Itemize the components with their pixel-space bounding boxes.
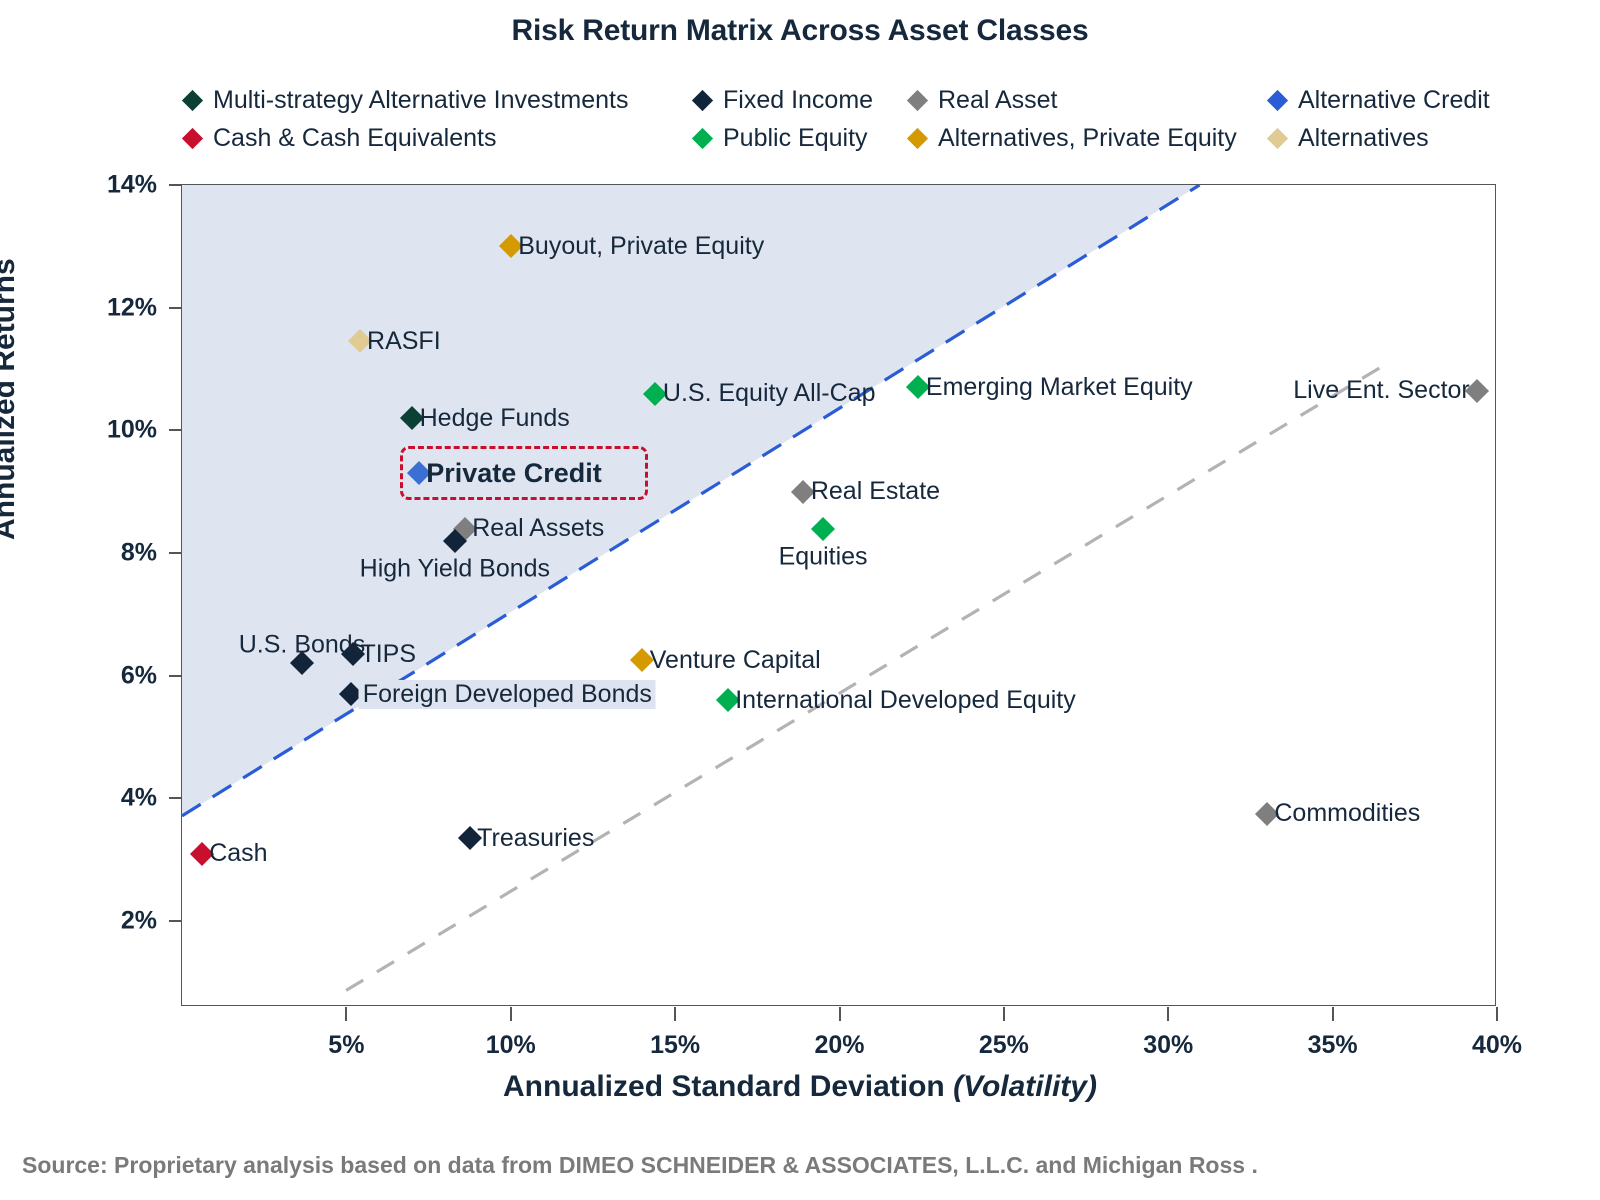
legend-item-alternatives[interactable]: Alternatives [1270,126,1429,151]
y-tick-mark [169,920,182,922]
legend-item-multi-strategy-alternative-investments[interactable]: Multi-strategy Alternative Investments [185,88,628,113]
x-tick-mark [1496,1007,1498,1021]
data-point-u-s-bonds[interactable]: U.S. Bonds [293,655,310,672]
y-tick-label: 6% [121,661,157,690]
data-point-label: Foreign Developed Bonds [359,680,656,709]
data-point-real-estate[interactable]: Real Estate [795,483,812,500]
data-point-label: Cash [209,841,267,866]
x-tick-mark [345,1007,347,1021]
legend-diamond-icon [692,128,713,149]
y-tick-mark [169,429,182,431]
data-point-foreign-developed-bonds[interactable]: Foreign Developed Bonds [343,686,360,703]
chart-legend: Multi-strategy Alternative InvestmentsFi… [185,88,1525,166]
data-point-u-s-equity-all-cap[interactable]: U.S. Equity All-Cap [647,385,664,402]
x-tick-label: 35% [1308,1031,1358,1060]
data-point-label: U.S. Bonds [239,633,365,658]
data-point-private-credit[interactable]: Private Credit [410,465,427,482]
legend-item-alternatives-private-equity[interactable]: Alternatives, Private Equity [910,126,1237,151]
legend-diamond-icon [907,90,928,111]
data-point-label: TIPS [360,642,416,667]
legend-label: Alternatives [1298,126,1429,151]
data-point-treasuries[interactable]: Treasuries [461,830,478,847]
data-point-cash[interactable]: Cash [193,845,210,862]
plot-points-layer: Buyout, Private EquityRASFIU.S. Equity A… [182,185,1495,1005]
legend-label: Alternatives, Private Equity [938,126,1237,151]
data-point-equities[interactable]: Equities [815,520,832,537]
legend-item-public-equity[interactable]: Public Equity [695,126,868,151]
page-title: Risk Return Matrix Across Asset Classes [0,14,1600,48]
y-tick-mark [169,797,182,799]
x-axis-title-main: Annualized Standard Deviation [503,1070,953,1103]
legend-diamond-icon [182,90,203,111]
data-point-high-yield-bonds[interactable]: High Yield Bonds [446,532,463,549]
x-tick-label: 20% [814,1031,864,1060]
x-tick-mark [510,1007,512,1021]
x-tick-label: 30% [1143,1031,1193,1060]
data-point-emerging-market-equity[interactable]: Emerging Market Equity [910,379,927,396]
data-point-label: Real Assets [472,516,604,541]
diamond-marker-icon [443,529,467,553]
legend-diamond-icon [182,128,203,149]
data-point-hedge-funds[interactable]: Hedge Funds [404,410,421,427]
y-tick-label: 4% [121,784,157,813]
legend-label: Public Equity [723,126,868,151]
x-tick-label: 25% [979,1031,1029,1060]
y-tick-mark [169,552,182,554]
x-tick-label: 5% [328,1031,364,1060]
legend-diamond-icon [1267,90,1288,111]
data-point-label: Commodities [1274,801,1420,826]
legend-diamond-icon [907,128,928,149]
legend-label: Cash & Cash Equivalents [213,126,496,151]
legend-label: Real Asset [938,88,1058,113]
legend-label: Multi-strategy Alternative Investments [213,88,628,113]
data-point-label: Hedge Funds [420,406,570,431]
data-point-buyout-private-equity[interactable]: Buyout, Private Equity [502,238,519,255]
x-tick-mark [1332,1007,1334,1021]
x-tick-mark [1003,1007,1005,1021]
y-tick-label: 14% [107,171,157,200]
x-tick-mark [839,1007,841,1021]
legend-label: Fixed Income [723,88,873,113]
data-point-label: International Developed Equity [735,688,1076,713]
x-tick-mark [674,1007,676,1021]
x-axis-title: Annualized Standard Deviation (Volatilit… [0,1070,1600,1104]
source-note: Source: Proprietary analysis based on da… [22,1152,1258,1179]
data-point-live-ent-sector[interactable]: Live Ent. Sector [1469,382,1486,399]
plot-area: Buyout, Private EquityRASFIU.S. Equity A… [181,184,1496,1006]
x-axis-title-italic: (Volatility) [953,1070,1097,1103]
x-tick-label: 40% [1472,1031,1522,1060]
y-tick-label: 2% [121,907,157,936]
diamond-marker-icon [811,516,835,540]
data-point-label: Emerging Market Equity [926,375,1193,400]
data-point-label: Real Estate [811,479,940,504]
data-point-label: Venture Capital [650,648,821,673]
y-tick-label: 10% [107,416,157,445]
data-point-label: Equities [779,544,868,569]
y-axis-title: Annualized Returns [0,258,22,540]
x-tick-label: 15% [650,1031,700,1060]
data-point-label: Buyout, Private Equity [518,234,764,259]
legend-diamond-icon [692,90,713,111]
y-tick-label: 8% [121,539,157,568]
y-tick-mark [169,307,182,309]
data-point-international-developed-equity[interactable]: International Developed Equity [719,692,736,709]
data-point-venture-capital[interactable]: Venture Capital [634,652,651,669]
data-point-label: RASFI [367,329,441,354]
y-tick-label: 12% [107,293,157,322]
data-point-commodities[interactable]: Commodities [1258,805,1275,822]
data-point-label: High Yield Bonds [360,556,550,581]
data-point-label: Private Credit [426,460,602,487]
y-tick-mark [169,184,182,186]
legend-item-fixed-income[interactable]: Fixed Income [695,88,873,113]
legend-item-alternative-credit[interactable]: Alternative Credit [1270,88,1490,113]
legend-item-real-asset[interactable]: Real Asset [910,88,1058,113]
data-point-label: Treasuries [477,826,594,851]
legend-label: Alternative Credit [1298,88,1490,113]
x-tick-label: 10% [486,1031,536,1060]
data-point-label: U.S. Equity All-Cap [663,381,876,406]
data-point-rasfi[interactable]: RASFI [351,333,368,350]
data-point-label: Live Ent. Sector [1293,378,1469,403]
y-tick-mark [169,675,182,677]
x-tick-mark [1167,1007,1169,1021]
legend-diamond-icon [1267,128,1288,149]
legend-item-cash-cash-equivalents[interactable]: Cash & Cash Equivalents [185,126,496,151]
